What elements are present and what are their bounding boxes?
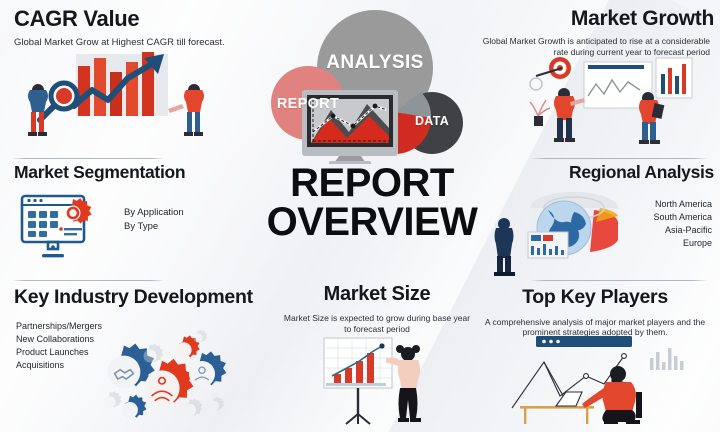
interlocking-gears-cluster-illustration xyxy=(90,330,230,430)
panel-market-growth: Market Growth Global Market Growth is an… xyxy=(470,8,714,158)
panel-subtitle: Global Market Growth is anticipated to r… xyxy=(470,36,710,58)
list-item: Asia-Pacific xyxy=(653,224,712,237)
section-divider xyxy=(530,280,708,281)
flipchart-bar-chart-woman-illustration xyxy=(320,336,440,426)
panel-top-key-players: Top Key Players A comprehensive analysis… xyxy=(476,288,714,432)
list-item: By Application xyxy=(124,206,184,220)
infographic-canvas: CAGR Value Global Market Grow at Highest… xyxy=(0,0,720,432)
panel-subtitle: Global Market Grow at Highest CAGR till … xyxy=(14,37,239,49)
section-divider xyxy=(12,158,164,159)
page-title-line1: REPORT xyxy=(232,164,512,203)
analysis-label: ANALYSIS xyxy=(317,52,433,74)
panel-title: Key Industry Development xyxy=(14,288,264,308)
panel-title: CAGR Value xyxy=(14,8,254,30)
panel-key-industry-development: Key Industry Development Partnerships/Me… xyxy=(14,288,264,428)
desktop-monitor-chart-icon xyxy=(255,4,485,164)
panel-title: Market Size xyxy=(282,284,472,304)
panel-title: Market Growth xyxy=(470,8,714,29)
bar-chart-arrow-magnifier-people-illustration xyxy=(16,50,251,145)
list-item: North America xyxy=(653,198,712,211)
section-divider xyxy=(530,158,708,159)
panel-cagr-value: CAGR Value Global Market Grow at Highest… xyxy=(14,8,254,158)
panel-subtitle: A comprehensive analysis of major market… xyxy=(476,317,714,339)
panel-subtitle: Market Size is expected to grow during b… xyxy=(282,313,472,335)
panel-title: Top Key Players xyxy=(476,288,714,308)
panel-market-segmentation: Market Segmentation xyxy=(14,164,254,269)
panel-title: Market Segmentation xyxy=(14,164,254,182)
monitor-gear-settings-icon xyxy=(18,192,102,260)
section-divider xyxy=(12,280,164,281)
center-illustration: ANALYSIS REPORT DATA xyxy=(255,4,485,164)
list-item: South America xyxy=(653,211,712,224)
list-item: By Type xyxy=(124,220,184,234)
presentation-board-target-people-illustration xyxy=(522,56,702,146)
region-bullet-list: North America South America Asia-Pacific… xyxy=(653,198,712,250)
panel-market-size: Market Size Market Size is expected to g… xyxy=(282,284,472,432)
man-at-desk-laptop-line-chart-illustration xyxy=(500,336,700,424)
list-item: Europe xyxy=(653,237,712,250)
segmentation-bullet-list: By Application By Type xyxy=(124,206,184,234)
page-title: REPORT OVERVIEW xyxy=(232,164,512,242)
report-label: REPORT xyxy=(267,96,349,112)
page-title-line2: OVERVIEW xyxy=(232,203,512,242)
data-label: DATA xyxy=(401,114,463,128)
